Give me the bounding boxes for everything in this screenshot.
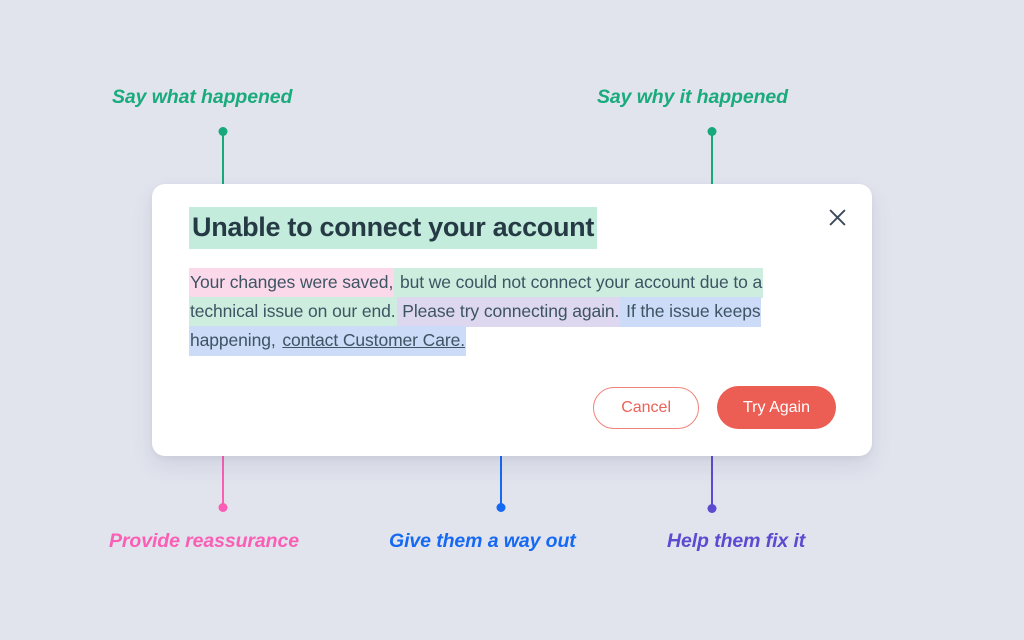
close-button[interactable] bbox=[820, 200, 854, 234]
body-segment-reassurance: Your changes were saved, bbox=[189, 268, 394, 298]
annotation-label-say-why-happened: Say why it happened bbox=[597, 86, 788, 109]
close-icon bbox=[829, 209, 846, 226]
connector-dot-top bbox=[219, 127, 228, 136]
connector-dot-bottom bbox=[219, 503, 228, 512]
customer-care-link[interactable]: contact Customer Care. bbox=[281, 326, 466, 356]
connector-dot-bottom bbox=[497, 503, 506, 512]
annotation-label-help-them-fix-it: Help them fix it bbox=[667, 530, 805, 553]
dialog-title: Unable to connect your account bbox=[189, 214, 597, 241]
annotation-label-give-them-a-way-out: Give them a way out bbox=[389, 530, 576, 553]
annotation-label-provide-reassurance: Provide reassurance bbox=[109, 530, 299, 553]
connector-dot-bottom bbox=[708, 504, 717, 513]
dialog-body: Your changes were saved, but we could no… bbox=[189, 268, 789, 355]
dialog-actions: Cancel Try Again bbox=[593, 386, 836, 429]
cancel-button[interactable]: Cancel bbox=[593, 387, 699, 429]
annotation-label-say-what-happened: Say what happened bbox=[112, 86, 292, 109]
error-dialog: Unable to connect your account Your chan… bbox=[152, 184, 872, 456]
try-again-button[interactable]: Try Again bbox=[717, 386, 836, 429]
connector-dot-top bbox=[708, 127, 717, 136]
dialog-title-text: Unable to connect your account bbox=[189, 207, 597, 249]
body-segment-fix-it: Please try connecting again. bbox=[397, 297, 621, 327]
